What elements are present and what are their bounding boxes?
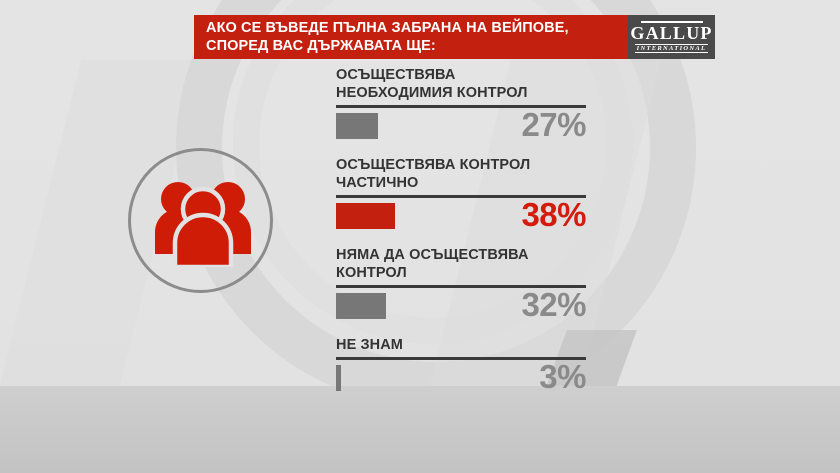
row-label-line1: ОСЪЩЕСТВЯВА [336,66,586,84]
chart-row: НЕ ЗНАМ 3% [336,336,586,396]
row-body: 38% [336,198,586,234]
gallup-logo: GALLUP INTERNATIONAL [628,15,715,59]
page-title-line2: СПОРЕД ВАС ДЪРЖАВАТА ЩЕ: [206,38,618,56]
row-label-line1: ОСЪЩЕСТВЯВА КОНТРОЛ [336,156,586,174]
chart-row: ОСЪЩЕСТВЯВА НЕОБХОДИМИЯ КОНТРОЛ 27% [336,66,586,144]
row-label: ОСЪЩЕСТВЯВА НЕОБХОДИМИЯ КОНТРОЛ [336,66,586,102]
infographic-screen: АКО СЕ ВЪВЕДЕ ПЪЛНА ЗАБРАНА НА ВЕЙПОВЕ, … [0,0,840,473]
row-label: ОСЪЩЕСТВЯВА КОНТРОЛ ЧАСТИЧНО [336,156,586,192]
people-group-icon [128,148,273,293]
row-label-line2: КОНТРОЛ [336,264,586,282]
logo-sub-text: INTERNATIONAL [635,44,709,54]
chart-row: НЯМА ДА ОСЪЩЕСТВЯВА КОНТРОЛ 32% [336,246,586,324]
row-percent: 27% [521,106,586,144]
row-label-line2: НЕОБХОДИМИЯ КОНТРОЛ [336,84,586,102]
header-banner: АКО СЕ ВЪВЕДЕ ПЪЛНА ЗАБРАНА НА ВЕЙПОВЕ, … [194,15,715,59]
people-group-glyph [153,179,253,267]
row-label-line1: НЯМА ДА ОСЪЩЕСТВЯВА [336,246,586,264]
logo-main-text: GALLUP [630,24,712,43]
row-label: НЕ ЗНАМ [336,336,586,354]
row-bar [336,365,341,391]
row-label-line1: НЕ ЗНАМ [336,336,586,354]
row-body: 32% [336,288,586,324]
row-percent: 3% [539,358,586,396]
row-body: 27% [336,108,586,144]
row-bar [336,203,395,229]
row-body: 3% [336,360,586,396]
chart-row: ОСЪЩЕСТВЯВА КОНТРОЛ ЧАСТИЧНО 38% [336,156,586,234]
row-bar [336,113,378,139]
page-title: АКО СЕ ВЪВЕДЕ ПЪЛНА ЗАБРАНА НА ВЕЙПОВЕ, … [194,15,628,59]
page-title-line1: АКО СЕ ВЪВЕДЕ ПЪЛНА ЗАБРАНА НА ВЕЙПОВЕ, [206,20,618,38]
row-bar [336,293,386,319]
row-label-line2: ЧАСТИЧНО [336,174,586,192]
row-percent: 38% [521,196,586,234]
row-label: НЯМА ДА ОСЪЩЕСТВЯВА КОНТРОЛ [336,246,586,282]
chart-rows: ОСЪЩЕСТВЯВА НЕОБХОДИМИЯ КОНТРОЛ 27% ОСЪЩ… [336,66,586,408]
row-percent: 32% [521,286,586,324]
